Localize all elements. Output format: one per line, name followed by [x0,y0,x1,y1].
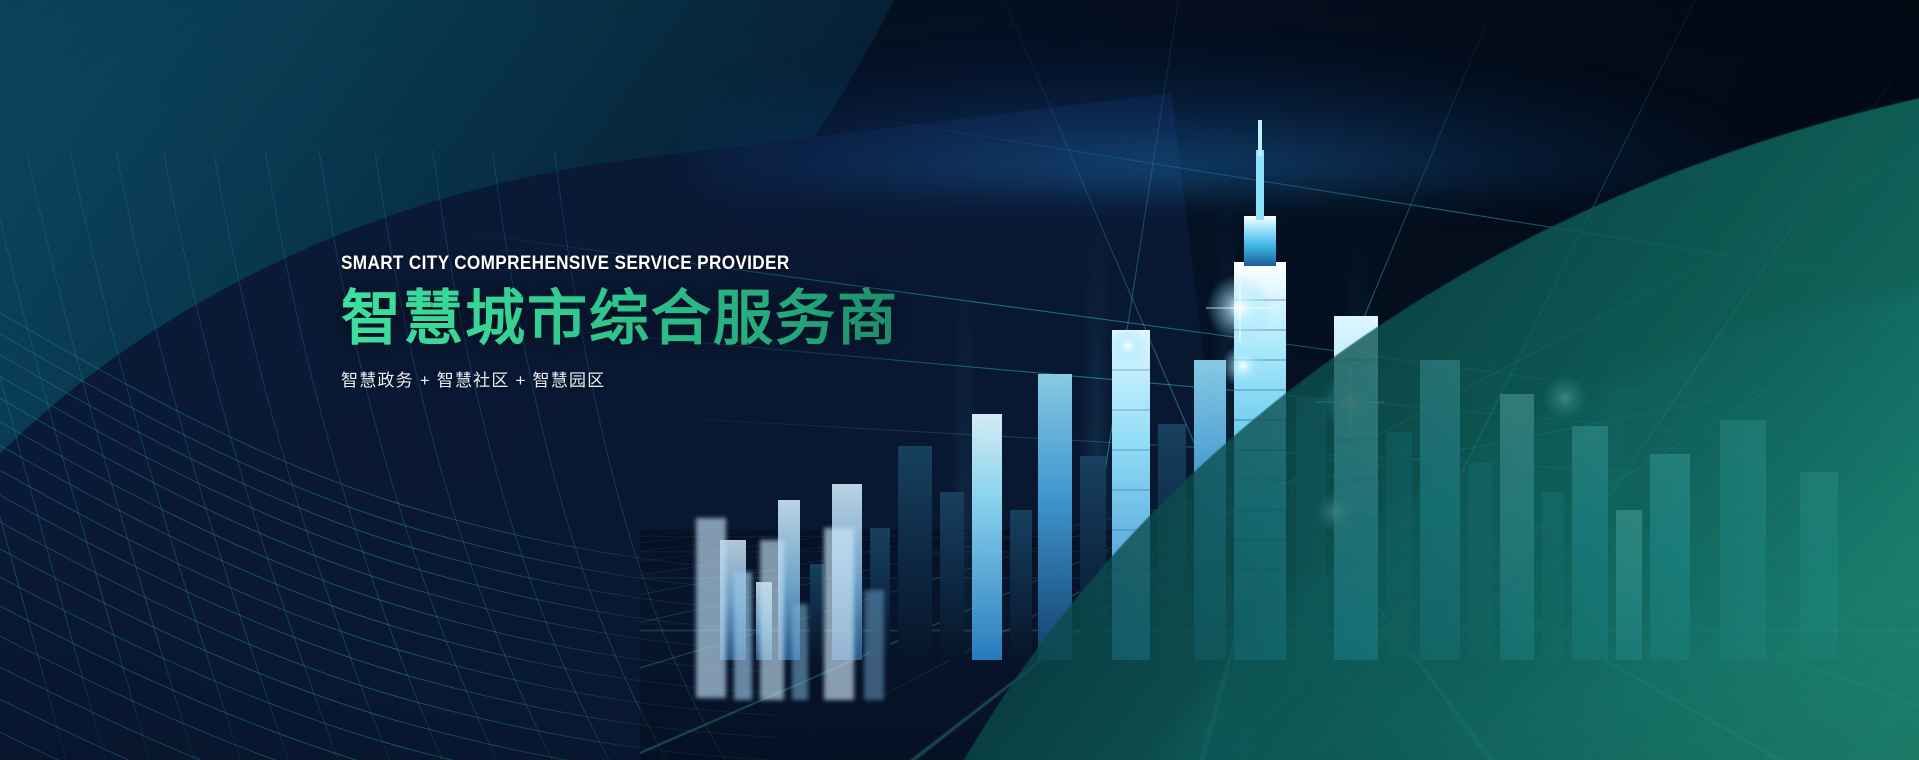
subtitle-services: 智慧政务 + 智慧社区 + 智慧园区 [341,366,1101,391]
smart-city-hero-banner: SMART CITY COMPREHENSIVE SERVICE PROVIDE… [0,0,1919,760]
city-skyline [660,120,1919,760]
eyebrow-tagline: SMART CITY COMPREHENSIVE SERVICE PROVIDE… [341,252,1010,275]
hero-copy-block: SMART CITY COMPREHENSIVE SERVICE PROVIDE… [341,252,1101,391]
page-title: 智慧城市综合服务商 [341,287,1101,352]
hero-spire-tower [1234,120,1286,660]
